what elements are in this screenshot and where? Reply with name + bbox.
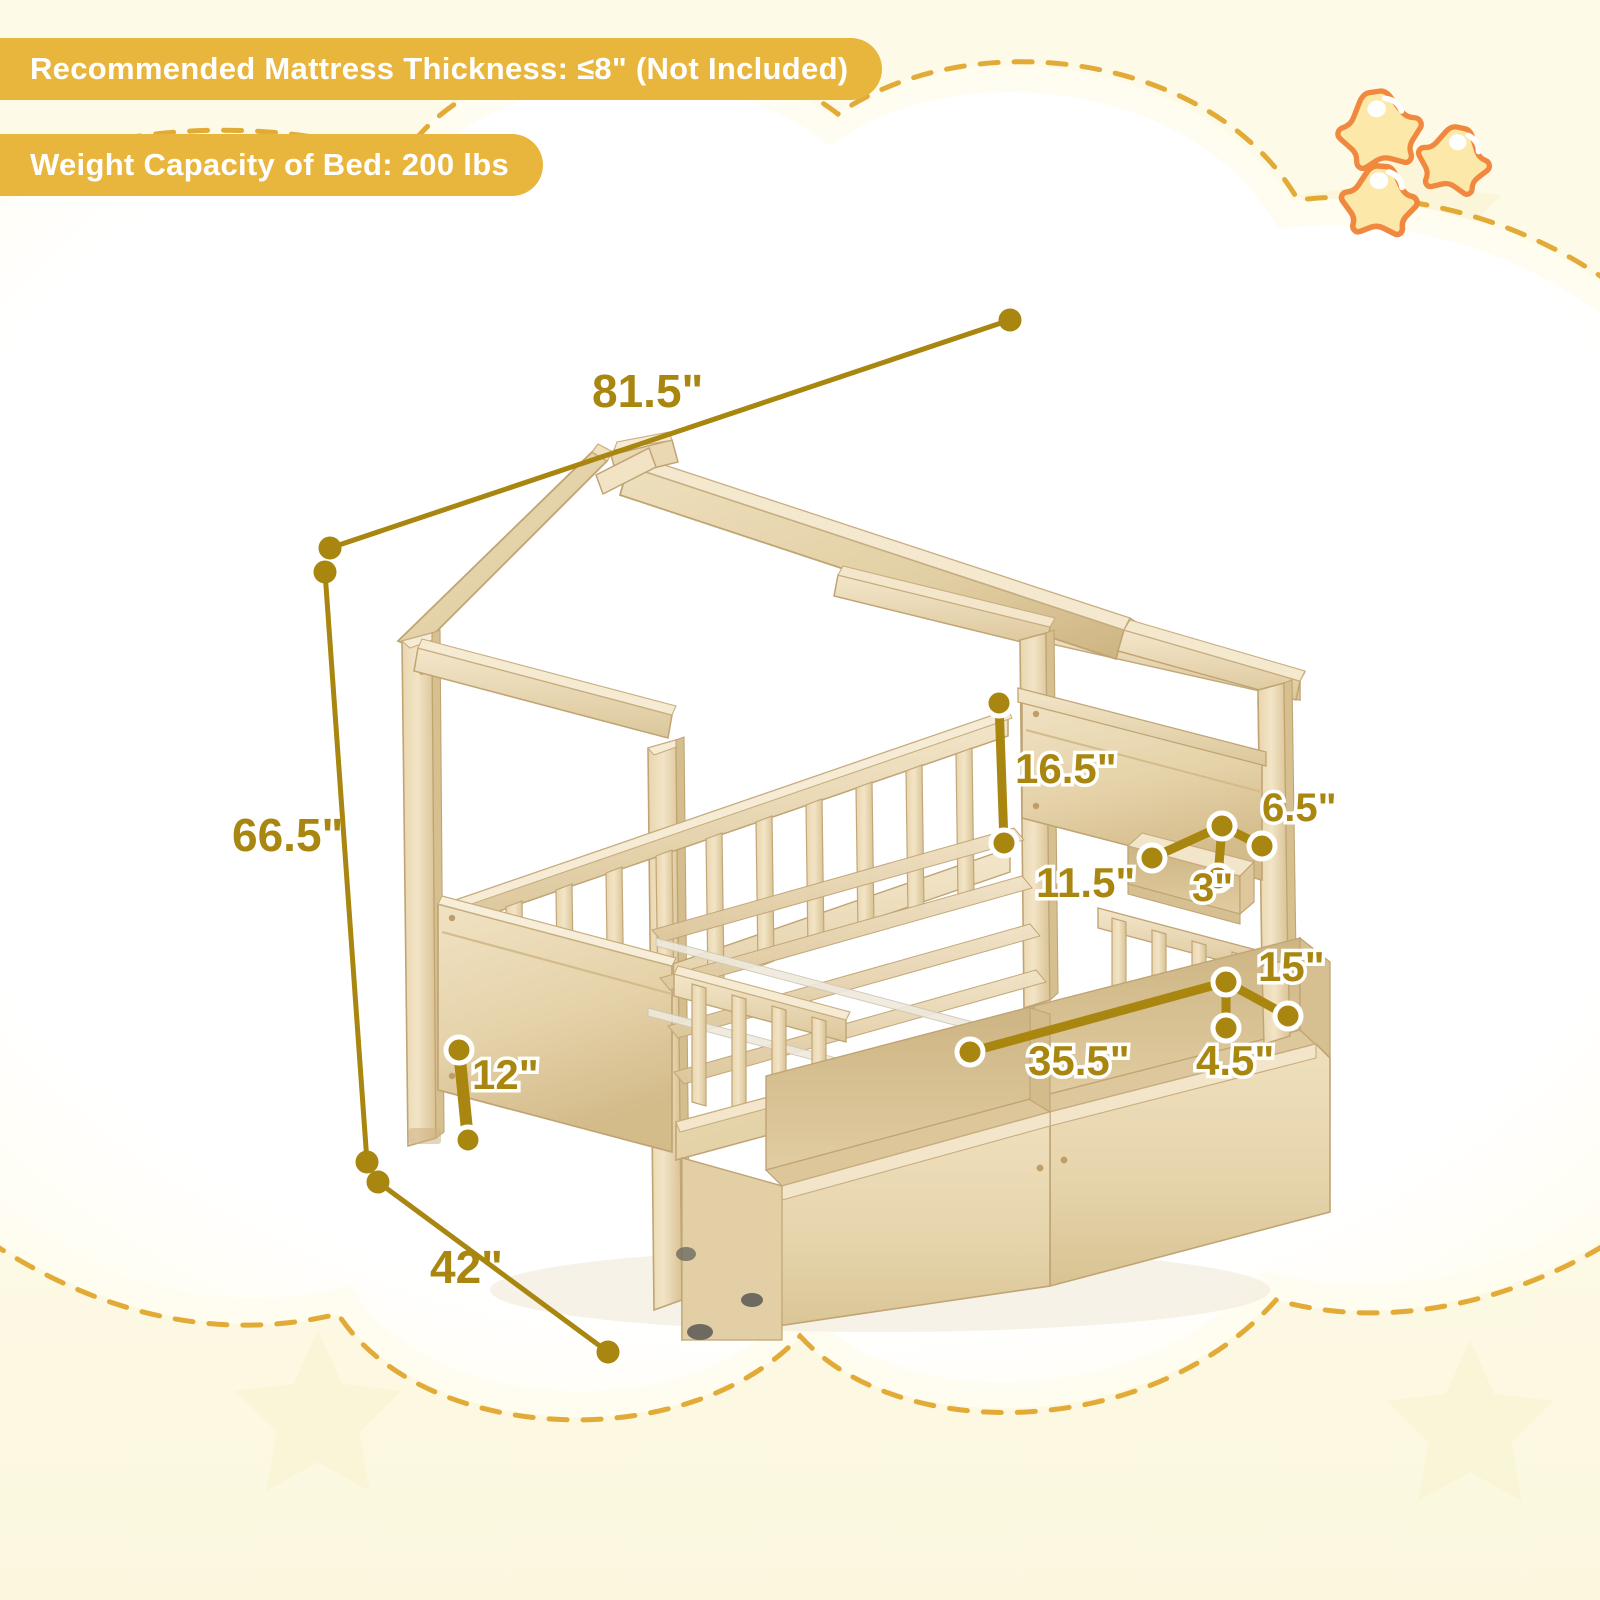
dimension-label-overall-width: 42" bbox=[430, 1244, 503, 1290]
dimline-overall-length bbox=[319, 309, 1021, 559]
banner-weight-capacity-text: Weight Capacity of Bed: 200 lbs bbox=[30, 147, 509, 183]
dimension-label-shelf-lip-height: 3" bbox=[1192, 868, 1233, 908]
dimension-label-overall-height: 66.5" bbox=[232, 812, 343, 858]
dimension-label-overall-length: 81.5" bbox=[592, 368, 703, 414]
dimline-overall-height bbox=[314, 561, 378, 1173]
dimension-label-drawer-width: 15" bbox=[1258, 946, 1325, 988]
banner-weight-capacity: Weight Capacity of Bed: 200 lbs bbox=[0, 134, 543, 196]
dimension-label-clearance: 12" bbox=[472, 1054, 539, 1096]
dimension-label-drawer-front-height: 4.5" bbox=[1196, 1040, 1274, 1082]
dimline-guardrail-height bbox=[986, 690, 1017, 856]
dimension-label-guardrail-height: 16.5" bbox=[1015, 748, 1117, 790]
banner-mattress-thickness-text: Recommended Mattress Thickness: ≤8" (Not… bbox=[30, 51, 848, 87]
dimension-label-headboard-rail-height: 11.5" bbox=[1036, 862, 1135, 904]
dimension-lines bbox=[0, 0, 1600, 1600]
product-dimension-diagram: Recommended Mattress Thickness: ≤8" (Not… bbox=[0, 0, 1600, 1600]
dimension-label-drawer-length: 35.5" bbox=[1028, 1040, 1130, 1082]
dimension-label-shelf-depth: 6.5" bbox=[1262, 788, 1337, 828]
banner-mattress-thickness: Recommended Mattress Thickness: ≤8" (Not… bbox=[0, 38, 882, 100]
